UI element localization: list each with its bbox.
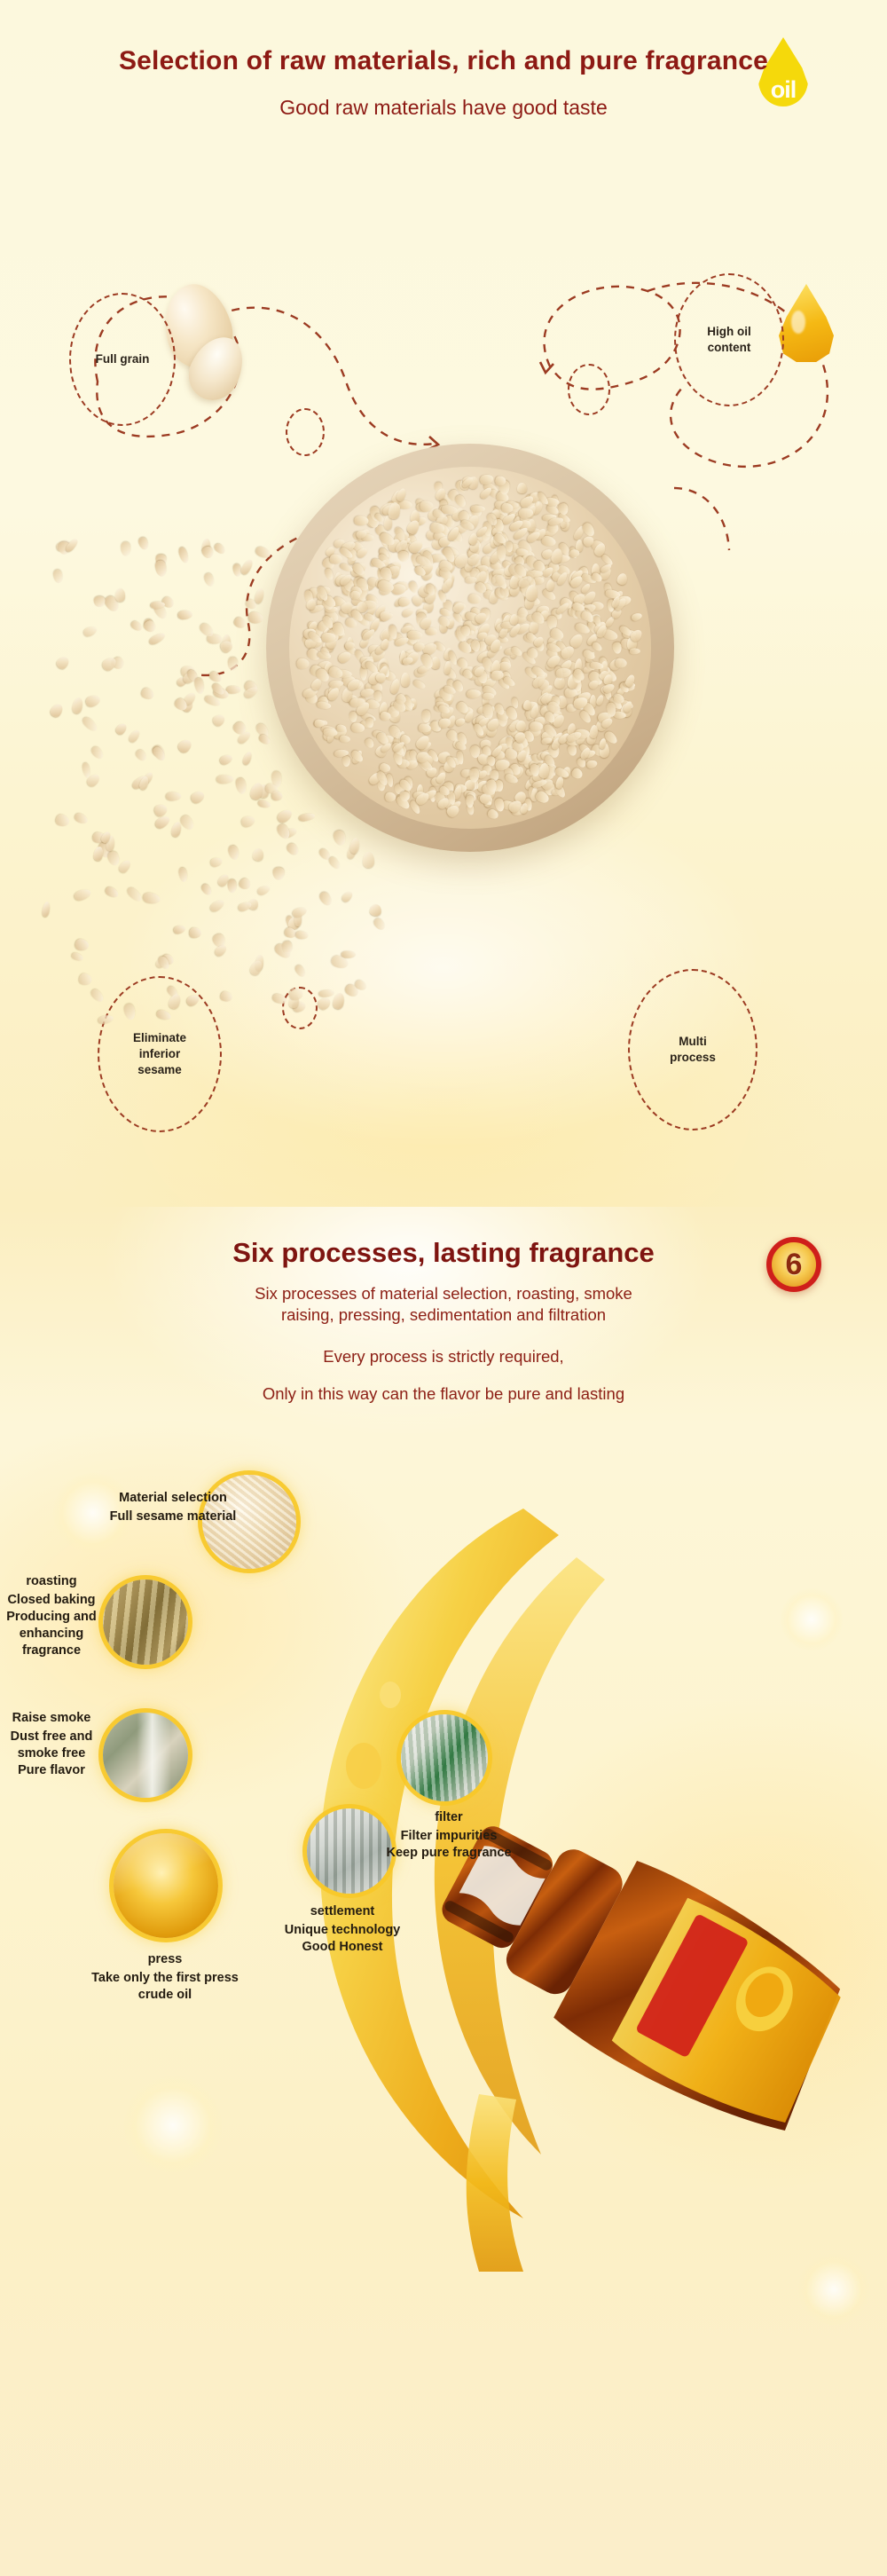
six-desc-line2: raising, pressing, sedimentation and fil… [0,1304,887,1326]
callout-multi-process: Multi process [628,969,757,1130]
press-line2: Take only the first press crude oil [85,1970,245,2004]
six-processes-title: Six processes, lasting fragrance [232,1237,655,1269]
six-processes-header: Six processes, lasting fragrance [0,1237,887,1269]
callout-high-oil-content-label: High oil content [698,324,760,356]
bowl-interior [289,467,651,829]
sesame-bowl-image [266,444,674,852]
raw-materials-header: Selection of raw materials, rich and pur… [0,46,887,120]
callout-full-grain-label: Full grain [87,351,159,367]
product-detail-page: Selection of raw materials, rich and pur… [0,0,887,2576]
bokeh-light [781,1588,843,1650]
raise-smoke-line2: Dust free and smoke free [2,1729,101,1762]
page-title: Selection of raw materials, rich and pur… [119,46,768,76]
process-label-raise-smoke: Raise smoke Dust free and smoke free Pur… [2,1709,101,1779]
six-processes-section: Six processes, lasting fragrance 6 Six p… [0,1207,887,2576]
process-label-filter: filter Filter impurities Keep pure fragr… [374,1808,523,1862]
settlement-line2: Unique technology [263,1922,422,1939]
raw-materials-section: Selection of raw materials, rich and pur… [0,0,887,1207]
process-label-roasting: roasting Closed baking Producing and enh… [2,1572,101,1659]
callout-full-grain: Full grain [69,293,176,426]
process-label-material-selection: Material selection Full sesame material [80,1489,266,1525]
filter-line2: Filter impurities [374,1828,523,1845]
callout-eliminate-label: Eliminate inferior sesame [124,1030,195,1079]
roasting-line3: Producing and enhancing fragrance [2,1609,101,1659]
mini-ring-bottom [282,987,318,1029]
process-image-filter [401,1714,488,1801]
six-requirement-line: Every process is strictly required, [0,1347,887,1367]
page-subtitle: Good raw materials have good taste [0,96,887,120]
settlement-line1: settlement [263,1902,422,1922]
six-flavor-line: Only in this way can the flavor be pure … [0,1384,887,1404]
roasting-line1: roasting [2,1572,101,1592]
process-image-press [114,1833,218,1938]
process-label-press: press Take only the first press crude oi… [85,1950,245,2004]
sesame-seeds [289,467,651,829]
six-badge-number: 6 [786,1249,803,1280]
filter-line3: Keep pure fragrance [374,1845,523,1862]
process-image-raise-smoke [103,1713,188,1798]
callout-multi-process-label: Multi process [661,1034,725,1066]
bokeh-light [798,2254,869,2325]
settlement-line3: Good Honest [263,1939,422,1956]
material-selection-line2: Full sesame material [80,1509,266,1525]
filter-line1: filter [374,1808,523,1828]
press-line1: press [85,1950,245,1970]
callout-high-oil-content: High oil content [674,273,784,406]
six-processes-description: Six processes of material selection, roa… [0,1283,887,1325]
six-desc-line1: Six processes of material selection, roa… [0,1283,887,1304]
roasting-line2: Closed baking [2,1592,101,1609]
process-image-roasting [103,1579,188,1665]
mini-ring-right [568,364,610,415]
process-label-settlement: settlement Unique technology Good Honest [263,1902,422,1956]
raise-smoke-line3: Pure flavor [2,1762,101,1779]
material-selection-line1: Material selection [80,1489,266,1509]
callout-eliminate-inferior-sesame: Eliminate inferior sesame [98,976,222,1132]
raise-smoke-line1: Raise smoke [2,1709,101,1729]
bokeh-light [124,2076,222,2174]
